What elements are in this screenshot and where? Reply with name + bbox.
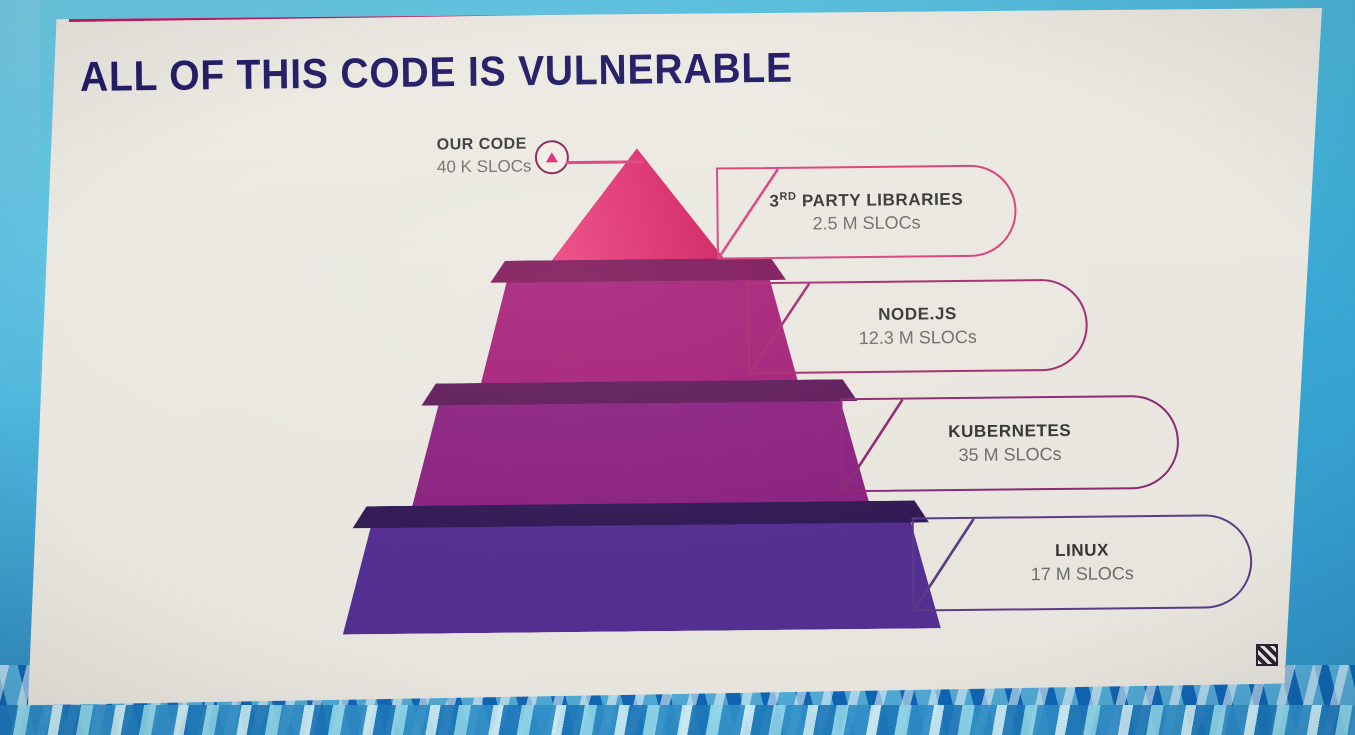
- slide-canvas: ALL OF THIS CODE IS VULNERABLE: [28, 8, 1322, 708]
- callout-title-superscript-third-party: RD: [779, 190, 796, 202]
- diagonal-stripe-logo-mark: [1256, 644, 1278, 666]
- callout-title-linux: LINUX: [1030, 540, 1133, 561]
- callout-title-kubernetes: KUBERNETES: [948, 421, 1071, 442]
- callout-text-third-party: 3RD PARTY LIBRARIES 2.5 M SLOCs: [769, 189, 963, 236]
- pyramid-tier-kubernetes[interactable]: [410, 379, 869, 509]
- logo-stripes: [1258, 646, 1276, 664]
- callout-text-kubernetes: KUBERNETES 35 M SLOCs: [948, 421, 1072, 466]
- callout-slant-edge-nodejs: [747, 282, 812, 375]
- tier-shadow-band-third-party: [479, 258, 797, 283]
- callout-third-party-libraries[interactable]: 3RD PARTY LIBRARIES 2.5 M SLOCs: [716, 164, 1017, 259]
- background-wave-pattern-lower: [0, 705, 1355, 735]
- callout-nodejs[interactable]: NODE.JS 12.3 M SLOCs: [747, 279, 1088, 375]
- callout-slant-edge-linux: [912, 517, 977, 612]
- callout-title-nodejs: NODE.JS: [858, 304, 976, 325]
- callout-linux[interactable]: LINUX 17 M SLOCs: [912, 514, 1253, 612]
- callout-text-nodejs: NODE.JS 12.3 M SLOCs: [858, 304, 977, 349]
- presentation-slide: ALL OF THIS CODE IS VULNERABLE: [28, 8, 1322, 708]
- callout-value-linux: 17 M SLOCs: [1031, 563, 1134, 585]
- callout-value-third-party: 2.5 M SLOCs: [770, 212, 964, 235]
- callout-kubernetes[interactable]: KUBERNETES 35 M SLOCs: [840, 395, 1179, 493]
- callout-slant-edge-kubernetes: [840, 398, 905, 493]
- callout-title-prefix-third-party: 3: [769, 191, 779, 210]
- our-code-title: OUR CODE: [437, 135, 587, 155]
- pyramid-tier-linux[interactable]: [342, 500, 941, 634]
- our-code-label: OUR CODE 40 K SLOCs: [437, 135, 587, 178]
- callout-title-third-party: 3RD PARTY LIBRARIES: [769, 189, 963, 212]
- callout-title-suffix-third-party: PARTY LIBRARIES: [797, 189, 964, 210]
- pyramid-diagram: OUR CODE 40 K SLOCs 3RD PARTY LIBRARIES …: [24, 1, 1325, 715]
- callout-value-nodejs: 12.3 M SLOCs: [859, 327, 977, 349]
- our-code-value: 40 K SLOCs: [437, 156, 587, 178]
- callout-text-linux: LINUX 17 M SLOCs: [1030, 540, 1134, 585]
- callout-value-kubernetes: 35 M SLOCs: [948, 444, 1071, 466]
